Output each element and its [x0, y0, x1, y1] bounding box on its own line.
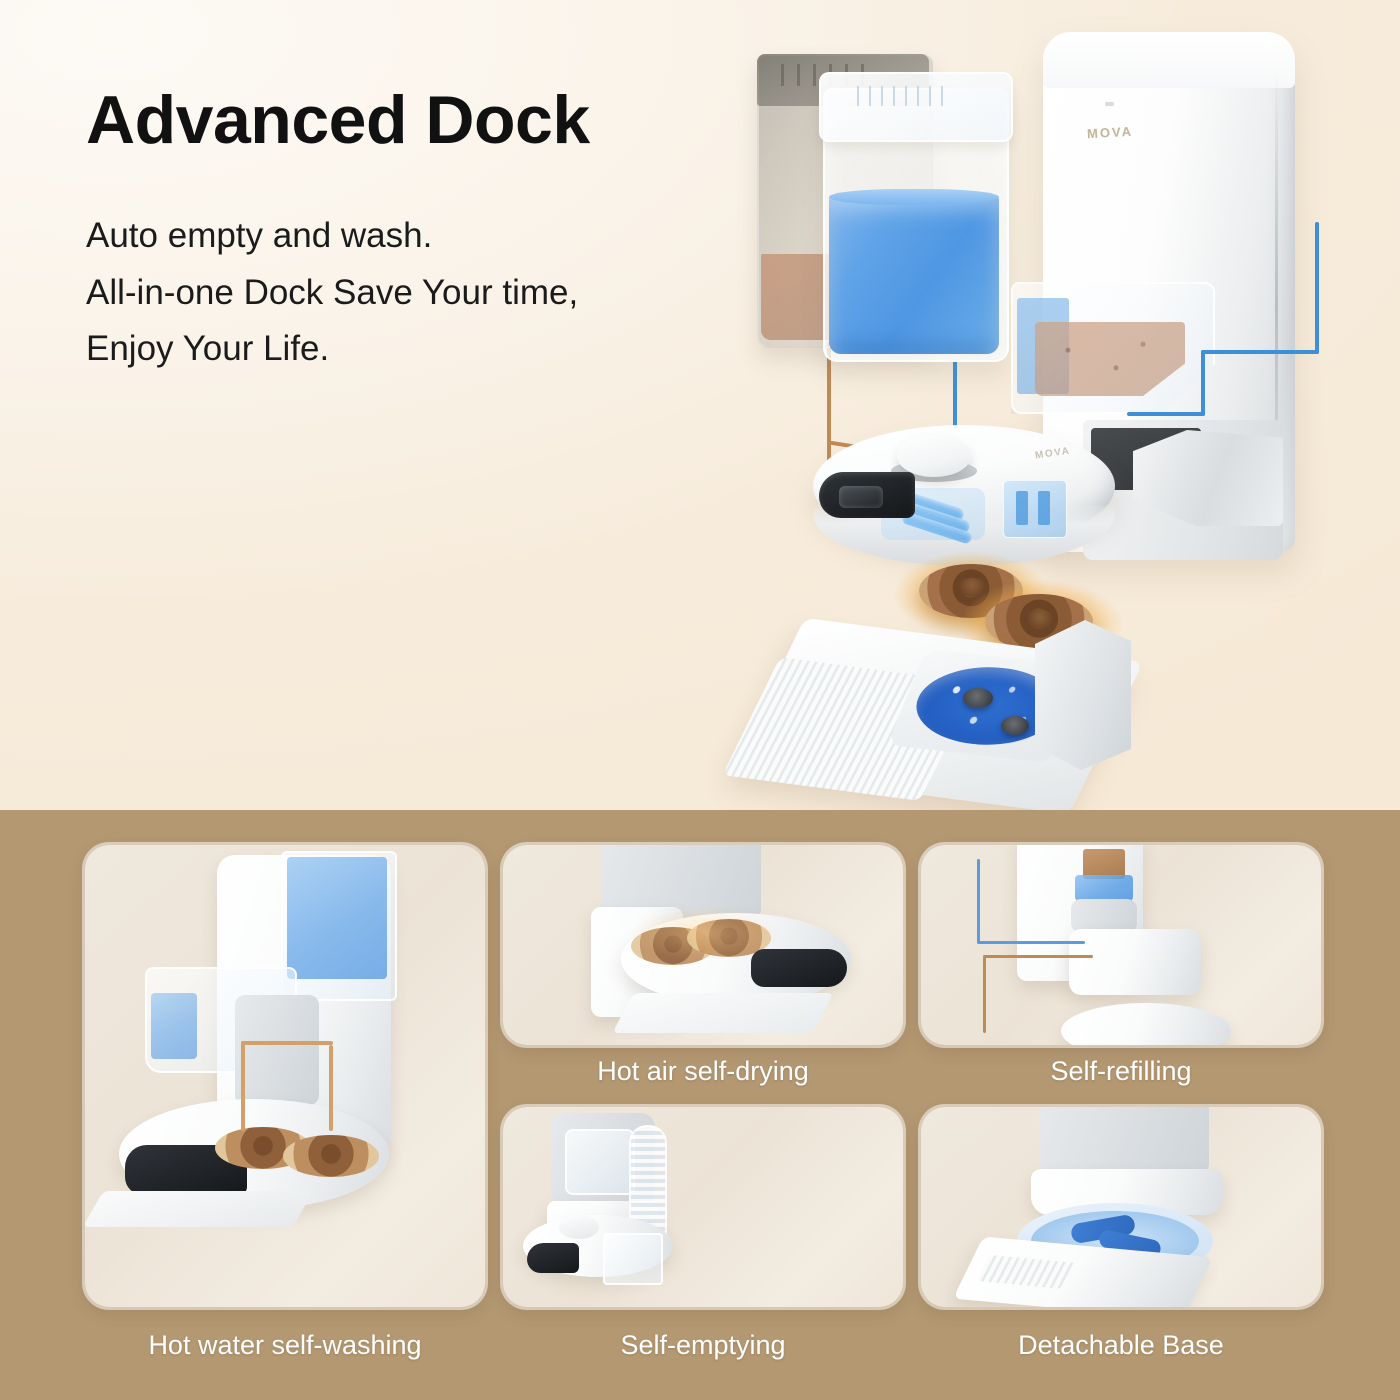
wash-spinner-1: [963, 688, 993, 708]
card1-hot-water-tube-3: [241, 1041, 333, 1045]
card3-copper-tube-v: [983, 957, 986, 1033]
hero-section: Advanced Dock Auto empty and wash. All-i…: [0, 0, 1400, 810]
card4-robot-lidar: [559, 1215, 599, 1239]
card3-copper-tube-h: [983, 955, 1093, 958]
card2-hot-air-glow: [629, 905, 779, 961]
hero-subtitle-line-3: Enjoy Your Life.: [86, 321, 806, 378]
feature-caption-self-emptying: Self-emptying: [503, 1330, 903, 1361]
mop-pad-2-hub: [1025, 610, 1055, 628]
card2-robot-bumper: [751, 949, 847, 987]
feature-caption-detachable-base: Detachable Base: [921, 1330, 1321, 1361]
product-feature-page: Advanced Dock Auto empty and wash. All-i…: [0, 0, 1400, 1400]
feature-card-self-refilling[interactable]: [921, 845, 1321, 1045]
card4-dust-bag: [565, 1129, 635, 1195]
blue-routing-tube-2: [1201, 350, 1319, 354]
card3-manifold: [1069, 929, 1201, 995]
feature-caption-hot-air-self-drying: Hot air self-drying: [503, 1056, 903, 1087]
base-dock-connector: [1035, 620, 1131, 770]
blue-routing-tube-3: [1201, 350, 1205, 416]
card1-base-ramp: [85, 1191, 313, 1227]
card1-clean-water: [287, 857, 387, 979]
feature-card-hot-air-self-drying[interactable]: [503, 845, 903, 1045]
dock-tower-top: [1043, 32, 1295, 88]
card4-robot-bumper: [527, 1243, 579, 1273]
card1-dock-column: [235, 995, 319, 1105]
robot-lidar-turret: [897, 435, 971, 477]
feature-card-detachable-base[interactable]: [921, 1107, 1321, 1307]
card1-mop-pad-2: [283, 1135, 379, 1177]
clean-water-level: [829, 196, 999, 354]
exploded-product-illustration: MOVA: [735, 10, 1400, 810]
hero-copy: Advanced Dock Auto empty and wash. All-i…: [86, 86, 806, 378]
dock-indicator-light: [1105, 102, 1114, 106]
card3-blue-tube-v: [977, 859, 980, 943]
robot-dustbin: [1003, 480, 1067, 538]
card1-hot-water-tube-1: [241, 1041, 245, 1131]
page-title: Advanced Dock: [86, 86, 806, 154]
dock-brand-logo: MOVA: [1087, 124, 1134, 141]
card3-valve-block: [1071, 899, 1137, 933]
blue-routing-tube-4: [1127, 412, 1205, 416]
hero-subtitle: Auto empty and wash. All-in-one Dock Sav…: [86, 208, 806, 378]
wash-spinner-2: [1001, 716, 1029, 735]
card3-blue-tube-h: [977, 941, 1085, 944]
feature-card-self-emptying[interactable]: [503, 1107, 903, 1307]
card3-clean-water-plug: [1075, 875, 1133, 901]
robot-camera-lens: [839, 486, 883, 508]
card4-dustbin-transparent: [603, 1233, 663, 1285]
clean-water-tank-lid: [819, 72, 1013, 142]
hero-subtitle-line-2: All-in-one Dock Save Your time,: [86, 265, 806, 322]
card1-collection-water: [151, 993, 197, 1059]
feature-caption-hot-water-self-washing: Hot water self-washing: [85, 1330, 485, 1361]
feature-card-hot-water-self-washing[interactable]: [85, 845, 485, 1307]
card1-hot-water-tube-2: [329, 1045, 333, 1131]
hero-subtitle-line-1: Auto empty and wash.: [86, 208, 806, 265]
blue-routing-tube-1: [1315, 222, 1319, 354]
card2-base-ramp: [612, 993, 833, 1033]
card3-robot: [1061, 1003, 1231, 1045]
feature-caption-self-refilling: Self-refilling: [921, 1056, 1321, 1087]
